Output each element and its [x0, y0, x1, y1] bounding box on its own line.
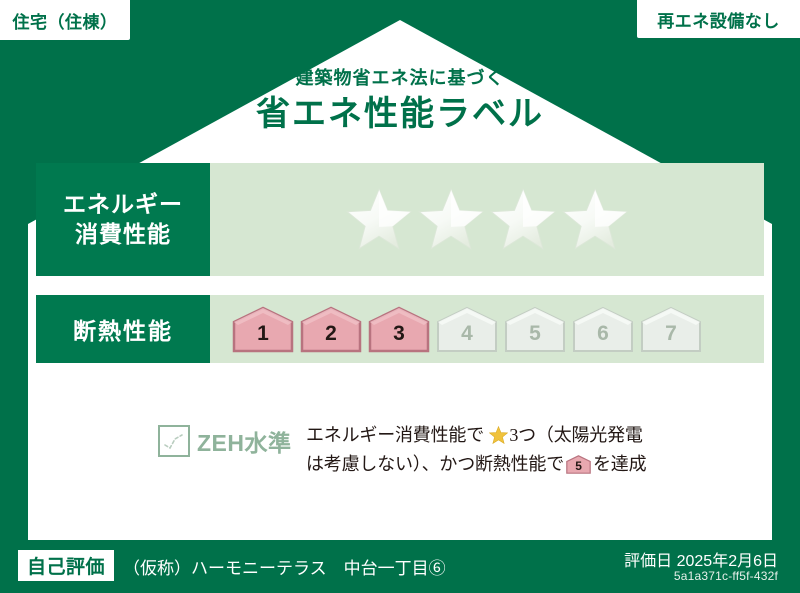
energy-star-rating [210, 163, 764, 276]
evaluation-type-badge: 自己評価 [18, 550, 114, 581]
grade-badge-1: 1 [232, 306, 294, 353]
grade-badge-3: 3 [368, 306, 430, 353]
achievement-description: エネルギー消費性能で 3つ（太陽光発電は考慮しない）、かつ断熱性能で 5 を達成 [306, 421, 656, 479]
star-icon-3 [490, 187, 556, 251]
footer-bar: 自己評価 （仮称）ハーモニーテラス 中台一丁目⑥ 評価日 2025年2月6日 5… [0, 540, 800, 593]
grade-badge-4-value: 4 [436, 323, 498, 344]
description-part2: は考慮しない）、かつ断熱性能で [306, 454, 564, 474]
energy-label-card: 住宅（住棟） 再エネ設備なし 建築物省エネ法に基づく 省エネ性能ラベル エネルギ… [0, 0, 800, 593]
grade-badge-3-value: 3 [368, 323, 430, 344]
description-star-count: 3つ（太陽光発電 [509, 425, 642, 445]
star-icon-4 [562, 187, 628, 251]
description-part3: を達成 [593, 454, 646, 474]
energy-label-line2: 消費性能 [75, 220, 171, 250]
grade-badge-1-value: 1 [232, 323, 294, 344]
label-subtitle: 建築物省エネ法に基づく [0, 64, 800, 90]
grade-badge-5: 5 [504, 306, 566, 353]
zeh-standard-indicator: ZEH水準 [158, 424, 292, 458]
insulation-grade-scale: 1 2 3 4 [210, 295, 764, 363]
insulation-label-text: 断熱性能 [73, 312, 173, 346]
star-icon-2 [418, 187, 484, 251]
zeh-check-icon [158, 425, 190, 457]
star-icon-inline [489, 426, 508, 444]
badge-renewable-energy-status: 再エネ設備なし [637, 0, 800, 38]
grade-badge-7: 7 [640, 306, 702, 353]
grade-badge-5-value: 5 [504, 323, 566, 344]
evaluation-date: 評価日 2025年2月6日 [624, 547, 778, 571]
grade-badge-6: 6 [572, 306, 634, 353]
star-icon-1 [346, 187, 412, 251]
energy-performance-row: エネルギー 消費性能 [36, 163, 764, 276]
grade-badge-4: 4 [436, 306, 498, 353]
energy-label-line1: エネルギー [63, 190, 183, 220]
description-part1: エネルギー消費性能で [306, 425, 484, 445]
grade-badge-2: 2 [300, 306, 362, 353]
grade-badge-2-value: 2 [300, 323, 362, 344]
zeh-label-text: ZEH水準 [197, 424, 292, 458]
energy-performance-label: エネルギー 消費性能 [36, 163, 210, 276]
label-id: 5a1a371c-ff5f-432f [674, 569, 778, 583]
grade-badge-inline-value: 5 [566, 460, 591, 472]
insulation-performance-row: 断熱性能 1 2 [36, 295, 764, 363]
grade-badge-7-value: 7 [640, 323, 702, 344]
grade-badge-inline: 5 [566, 455, 591, 474]
grade-badge-6-value: 6 [572, 323, 634, 344]
title-block: 建築物省エネ法に基づく 省エネ性能ラベル [0, 64, 800, 133]
page-title: 省エネ性能ラベル [0, 96, 800, 133]
insulation-performance-label: 断熱性能 [36, 295, 210, 363]
building-name: （仮称）ハーモニーテラス 中台一丁目⑥ [123, 554, 446, 579]
badge-building-type: 住宅（住棟） [0, 0, 130, 40]
